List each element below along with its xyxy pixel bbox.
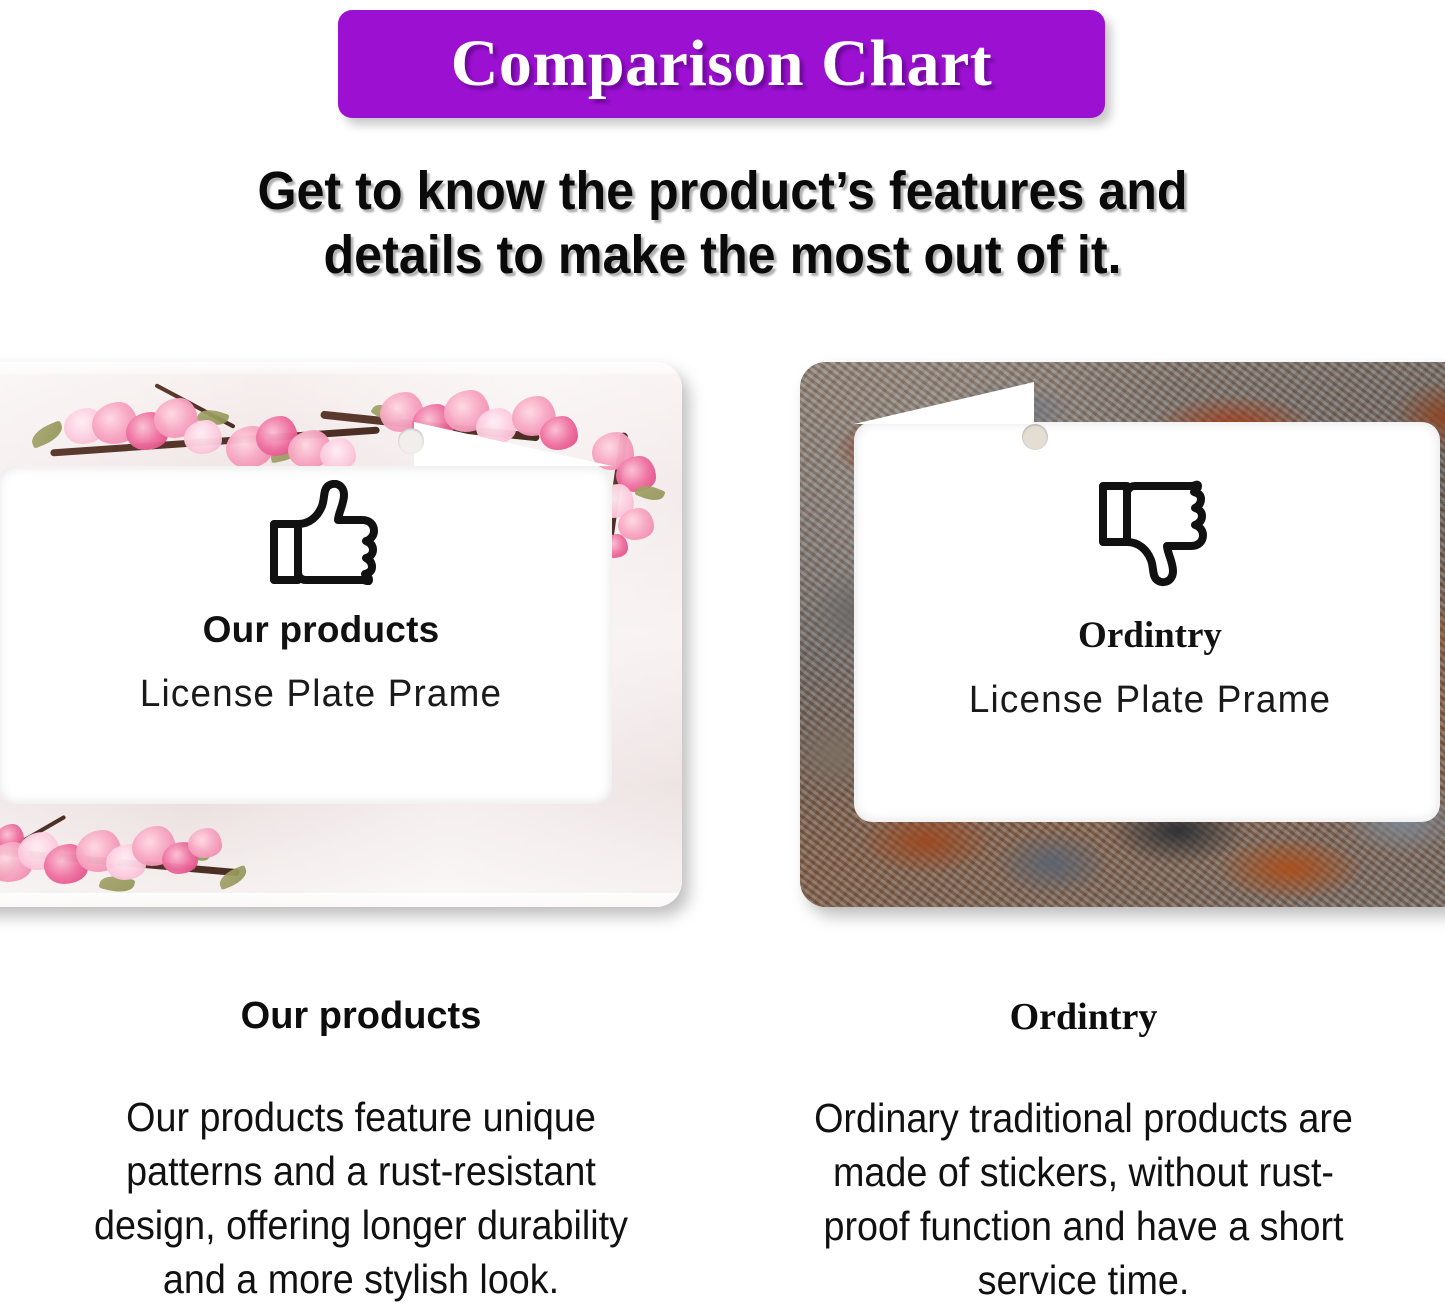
left-summary-body: Our products feature unique patterns and… — [71, 1090, 651, 1306]
page-subtitle: Get to know the product’s features and d… — [51, 160, 1395, 287]
thumbs-down-icon — [800, 480, 1445, 590]
summary-column-left: Our products Our products feature unique… — [0, 995, 722, 1314]
right-plate-title: Ordintry — [800, 614, 1445, 657]
summary-column-right: Ordintry Ordinary traditional products a… — [722, 995, 1445, 1314]
frames-row: Our products License Plate Prame Ordintr… — [0, 352, 1445, 932]
left-plate-content: Our products License Plate Prame — [0, 480, 682, 716]
page-title: Comparison Chart — [451, 26, 993, 102]
summary-row: Our products Our products feature unique… — [0, 995, 1445, 1314]
mounting-hole-right — [1022, 424, 1048, 450]
right-plate-subtitle: License Plate Prame — [811, 679, 1445, 722]
right-summary-title: Ordintry — [768, 995, 1399, 1039]
ordinary-product-plate-frame: Ordintry License Plate Prame — [800, 362, 1445, 907]
plate-corner-cut-left — [414, 422, 612, 466]
subtitle-line-1: Get to know the product’s features and — [51, 160, 1395, 224]
our-product-plate-frame: Our products License Plate Prame — [0, 362, 682, 907]
title-banner: Comparison Chart — [338, 10, 1105, 118]
mounting-hole-left — [398, 428, 424, 454]
subtitle-line-2: details to make the most out of it. — [51, 224, 1395, 288]
plate-corner-cut-right — [854, 382, 1034, 424]
left-summary-title: Our products — [46, 995, 676, 1038]
thumbs-up-icon — [0, 480, 682, 585]
left-plate-subtitle: License Plate Prame — [0, 673, 671, 716]
right-summary-body: Ordinary traditional products are made o… — [793, 1091, 1374, 1307]
left-plate-title: Our products — [0, 609, 682, 651]
comparison-chart-page: Comparison Chart Get to know the product… — [0, 0, 1445, 1314]
right-plate-content: Ordintry License Plate Prame — [800, 480, 1445, 722]
